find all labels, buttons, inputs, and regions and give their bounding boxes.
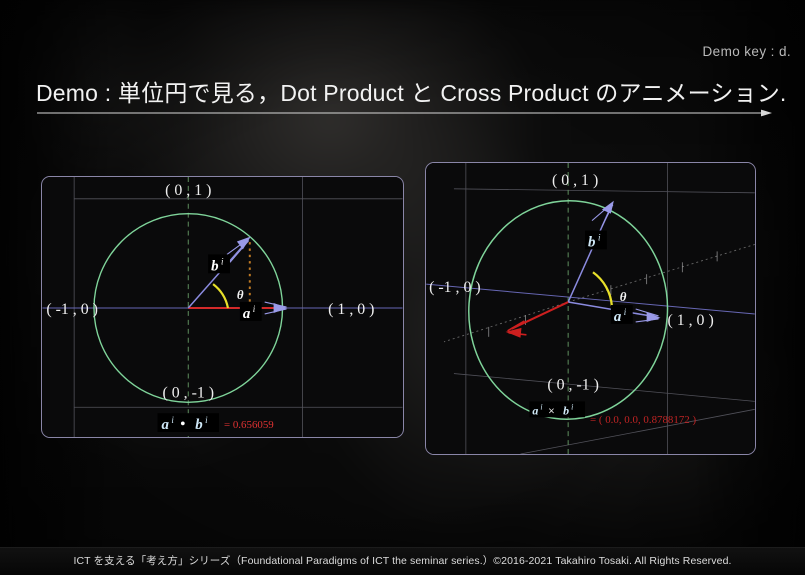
result-value: = ( 0.0, 0.0, 0.8788172 ) — [590, 414, 696, 426]
title-underline-arrow — [37, 108, 772, 118]
svg-text:b: b — [588, 234, 595, 250]
axis-label-left: ( -1 , 0 ) — [429, 279, 481, 296]
result-value: = 0.656059 — [224, 419, 274, 431]
axis-label-right: ( 1 , 0 ) — [667, 312, 713, 329]
axis-label-bottom: ( 0 , -1 ) — [162, 384, 214, 401]
axis-label-top: ( 0 , 1 ) — [165, 182, 211, 199]
axis-label-top: ( 0 , 1 ) — [552, 172, 598, 189]
vector-a-label: a i — [240, 302, 262, 322]
dot-product-plot: ( 0 , 1 ) ( 0 , -1 ) ( -1 , 0 ) ( 1 , 0 … — [42, 177, 403, 437]
svg-text:i: i — [540, 402, 542, 411]
axis-label-bottom: ( 0 , -1 ) — [547, 376, 599, 393]
result-operator: × — [548, 405, 554, 417]
svg-text:a: a — [243, 306, 251, 322]
page-title: Demo : 単位円で見る，Dot Product と Cross Produc… — [36, 74, 787, 108]
result-operator: • — [180, 417, 185, 432]
angle-label: θ — [237, 288, 244, 302]
angle-label: θ — [620, 289, 627, 304]
vector-a-label: a i — [611, 305, 633, 325]
svg-text:i: i — [571, 402, 573, 411]
axis-label-left: ( -1 , 0 ) — [46, 301, 98, 318]
cross-product-panel[interactable]: ( 0 , 1 ) ( 0 , -1 ) ( -1 , 0 ) ( 1 , 0 … — [425, 162, 756, 455]
result-operand-b: b — [563, 403, 569, 417]
dot-product-panel[interactable]: ( 0 , 1 ) ( 0 , -1 ) ( -1 , 0 ) ( 1 , 0 … — [41, 176, 404, 438]
demo-key-label: Demo key : d. — [703, 44, 791, 59]
plot-background — [426, 163, 755, 454]
result-operand-a: a — [532, 403, 538, 417]
vector-b-label: b i — [208, 254, 230, 274]
footer-copyright: ICT を支える「考え方」シリーズ（Foundational Paradigms… — [0, 553, 805, 568]
svg-text:a: a — [614, 309, 622, 325]
result-operand-a: a — [161, 417, 169, 433]
cross-product-plot: ( 0 , 1 ) ( 0 , -1 ) ( -1 , 0 ) ( 1 , 0 … — [426, 163, 755, 454]
svg-text:b: b — [211, 258, 218, 274]
result-operand-b: b — [195, 417, 202, 433]
vector-b-label: b i — [585, 231, 607, 251]
axis-label-right: ( 1 , 0 ) — [328, 301, 374, 318]
